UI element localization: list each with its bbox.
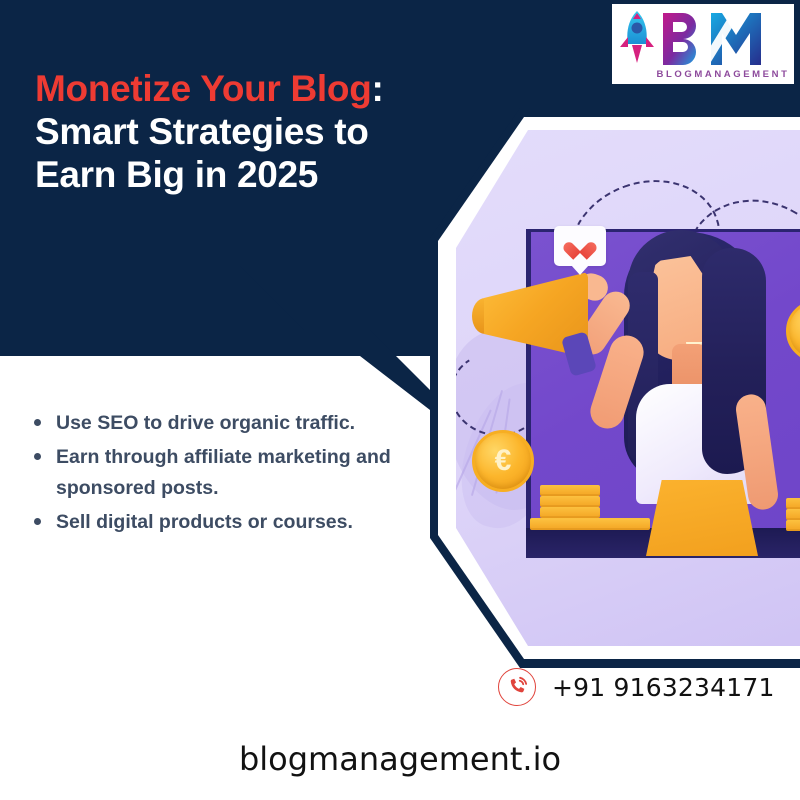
euro-coin-symbol: €: [495, 444, 512, 478]
heart-speech-bubble: [554, 226, 606, 266]
list-item-text: Earn through affiliate marketing and spo…: [56, 446, 391, 500]
list-item-text: Sell digital products or courses.: [56, 511, 353, 533]
bullet-dot-icon: [34, 419, 41, 426]
benefits-list: Use SEO to drive organic traffic. Earn t…: [28, 408, 436, 540]
list-item: Use SEO to drive organic traffic.: [56, 408, 436, 440]
brand-logo-svg: BLOGMANAGEMENT: [615, 7, 791, 81]
website-url[interactable]: blogmanagement.io: [0, 740, 800, 778]
list-item: Sell digital products or courses.: [56, 507, 436, 539]
rocket-icon: [620, 11, 654, 63]
woman-illustration: [606, 218, 800, 548]
phone-number: +91 9163234171: [552, 673, 775, 702]
list-item-text: Use SEO to drive organic traffic.: [56, 412, 355, 434]
contact-phone[interactable]: +91 9163234171: [498, 668, 775, 706]
illustration-artwork: € %: [456, 130, 800, 646]
social-media-poster: BLOGMANAGEMENT Monetize Your Blog: Smart…: [0, 0, 800, 800]
brand-logo[interactable]: BLOGMANAGEMENT: [612, 4, 794, 84]
euro-coin: €: [472, 430, 534, 492]
bullet-dot-icon: [34, 453, 41, 460]
logo-wordmark: BLOGMANAGEMENT: [657, 69, 790, 80]
bullet-dot-icon: [34, 518, 41, 525]
logo-letter-b: [663, 13, 696, 65]
headline-highlight: Monetize Your Blog: [35, 68, 372, 109]
brand-logo-inner: BLOGMANAGEMENT: [615, 7, 791, 81]
illustration-panel: € %: [430, 108, 800, 668]
megaphone-icon: [472, 272, 592, 358]
heart-icon: [570, 235, 590, 253]
list-item: Earn through affiliate marketing and spo…: [56, 442, 436, 505]
skirt: [646, 480, 758, 556]
page-title: Monetize Your Blog: Smart Strategies to …: [35, 68, 455, 197]
phone-ringing-icon: [498, 668, 536, 706]
